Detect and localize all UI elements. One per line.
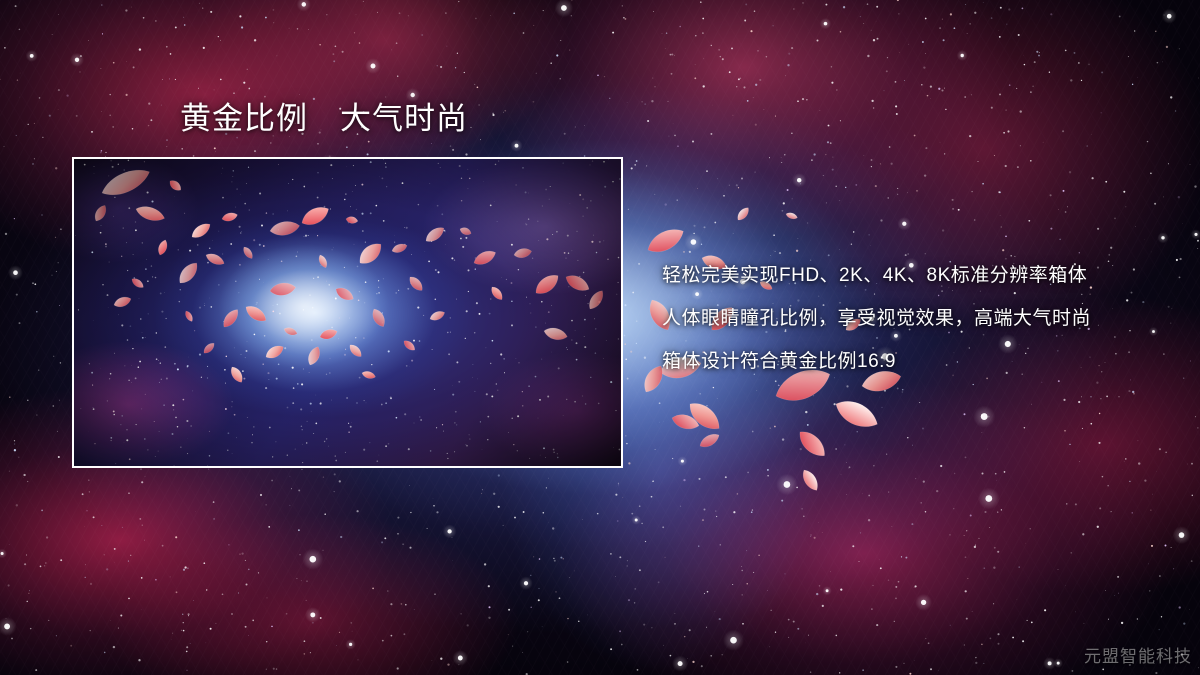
body-line-2: 人体眼睛瞳孔比例，享受视觉效果，高端大气时尚: [662, 297, 1162, 340]
body-line-1: 轻松完美实现FHD、2K、4K、8K标准分辨率箱体: [662, 254, 1162, 297]
panel-vignette: [74, 159, 621, 466]
slide-body-text: 轻松完美实现FHD、2K、4K、8K标准分辨率箱体 人体眼睛瞳孔比例，享受视觉效…: [662, 254, 1162, 383]
presentation-slide: 黄金比例 大气时尚 轻松完美实现FHD、2K、4K、8K标准分辨率箱体 人体眼睛…: [0, 0, 1200, 675]
panel-image-content: [74, 159, 621, 466]
watermark-label: 元盟智能科技: [1084, 642, 1192, 667]
body-line-3: 箱体设计符合黄金比例16:9: [662, 340, 1162, 383]
slide-title: 黄金比例 大气时尚: [180, 101, 468, 137]
framed-image-panel[interactable]: [72, 157, 623, 468]
